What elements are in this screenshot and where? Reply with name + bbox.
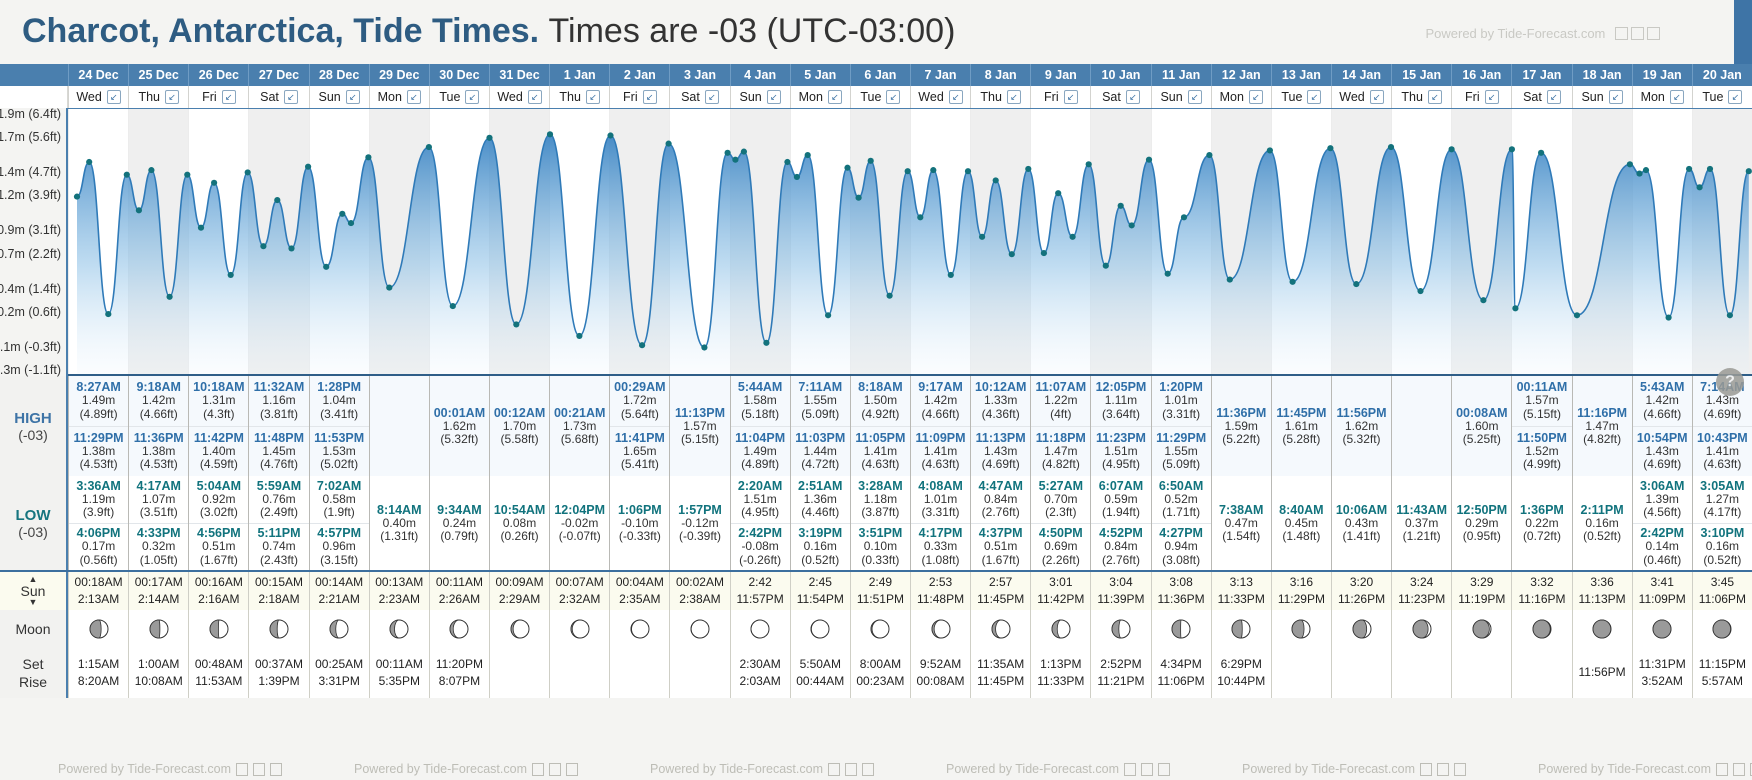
moon-phase-icon — [267, 617, 291, 641]
high-tide-height-m: 1.70m — [503, 420, 536, 433]
low-tide-time: 4:17AM — [136, 479, 180, 493]
sun-rise-time: 3:45 — [1711, 574, 1734, 591]
moon-phase-icon — [87, 617, 111, 641]
tide-extremum-dot-56 — [1103, 263, 1109, 269]
low-tide-height-ft: (4.56ft) — [1643, 506, 1681, 519]
tide-extremum-dot-54 — [1070, 234, 1076, 240]
weekday-label: Fri — [623, 90, 638, 104]
weekday-label: Sun — [319, 90, 341, 104]
moon-phase-icon — [1530, 617, 1554, 641]
expand-icon[interactable]: ↙ — [1188, 90, 1202, 104]
date-header-0[interactable]: 24 Dec — [68, 64, 128, 86]
high-tide-height-ft: (4.53ft) — [140, 458, 178, 471]
moon-phase-icon — [1470, 617, 1494, 641]
sun-rise-time: 2:53 — [929, 574, 952, 591]
expand-icon[interactable]: ↙ — [1126, 90, 1140, 104]
date-header-13[interactable]: 6 Jan — [850, 64, 910, 86]
high-tide-event: 11:45PM1.61m(5.28ft) — [1272, 376, 1331, 476]
expand-icon[interactable]: ↙ — [528, 90, 542, 104]
high-tide-height-m: 1.65m — [623, 445, 656, 458]
high-tide-time: 11:36PM — [1216, 406, 1266, 420]
high-tide-event: 11:48PM1.45m(4.76ft) — [249, 426, 308, 477]
tide-extremum-dot-42 — [887, 293, 893, 299]
high-tide-height-m: 1.55m — [804, 394, 837, 407]
sun-set-time: 2:21AM — [318, 591, 359, 608]
expand-icon[interactable]: ↙ — [586, 90, 600, 104]
high-tide-height-ft: (3.81ft) — [260, 408, 298, 421]
date-header-11[interactable]: 4 Jan — [730, 64, 790, 86]
low-tide-event: 3:10PM0.16m(0.52ft) — [1693, 523, 1752, 571]
low-tide-time: 5:11PM — [257, 526, 300, 540]
high-tide-cell-22 — [1391, 376, 1451, 476]
moon-rise-time: 10:08AM — [135, 673, 183, 690]
date-header-10[interactable]: 3 Jan — [669, 64, 729, 86]
weekday-label: Mon — [1220, 90, 1244, 104]
low-tide-cell-3: 5:59AM0.76m(2.49ft)5:11PM0.74m(2.43ft) — [248, 476, 308, 570]
weekday-label: Mon — [799, 90, 823, 104]
sun-set-time: 2:16AM — [198, 591, 239, 608]
tide-extremum-dot-28 — [639, 342, 645, 348]
moon-rise-time: 5:35PM — [379, 673, 420, 690]
high-tide-time: 1:20PM — [1159, 380, 1203, 394]
date-header-5[interactable]: 29 Dec — [369, 64, 429, 86]
expand-icon[interactable]: ↙ — [1670, 90, 1684, 104]
expand-icon[interactable]: ↙ — [1064, 90, 1078, 104]
moon-cell-17 — [1090, 610, 1150, 648]
moon-rise-time: 11:53AM — [195, 673, 242, 690]
tide-extremum-dot-45 — [930, 167, 936, 173]
moon-setrise-cell-20 — [1271, 648, 1331, 698]
sun-set-time: 11:48PM — [917, 591, 964, 608]
tide-extremum-dot-32 — [732, 157, 738, 163]
weekday-header-9: Fri↙ — [609, 86, 669, 108]
weekday-label: Thu — [980, 90, 1002, 104]
moon-cell-26 — [1632, 610, 1692, 648]
low-tide-height-m: 1.27m — [1706, 493, 1739, 506]
weekday-header-24: Sat↙ — [1511, 86, 1571, 108]
low-tide-time: 5:04AM — [197, 479, 241, 493]
low-tide-event: 5:11PM0.74m(2.43ft) — [249, 523, 308, 571]
date-header-17[interactable]: 10 Jan — [1090, 64, 1150, 86]
tide-extremum-dot-34 — [763, 340, 769, 346]
date-header-4[interactable]: 28 Dec — [309, 64, 369, 86]
high-tide-height-m: 1.42m — [924, 394, 957, 407]
tide-extremum-dot-26 — [576, 333, 582, 339]
sun-cell-15: 2:5711:45PM — [970, 572, 1030, 610]
weekday-header-1: Thu↙ — [128, 86, 188, 108]
low-tide-time: 1:57PM — [678, 503, 722, 517]
date-header-14[interactable]: 7 Jan — [910, 64, 970, 86]
high-tide-event: 11:50PM1.52m(4.99ft) — [1512, 426, 1571, 477]
high-tide-event: 5:43AM1.42m(4.66ft) — [1633, 376, 1692, 426]
high-tide-height-ft: (4.66ft) — [1643, 408, 1681, 421]
date-header-24[interactable]: 17 Jan — [1511, 64, 1571, 86]
high-tide-height-m: 1.41m — [1706, 445, 1739, 458]
tide-chart-row: 1.9m (6.4ft)1.7m (5.6ft)1.4m (4.7ft)1.2m… — [0, 108, 1752, 376]
sun-cells: 00:18AM2:13AM00:17AM2:14AM00:16AM2:16AM0… — [68, 572, 1752, 610]
expand-icon[interactable]: ↙ — [949, 90, 963, 104]
moon-rise-time: 8:07PM — [439, 673, 480, 690]
low-tide-cell-20: 8:40AM0.45m(1.48ft) — [1271, 476, 1331, 570]
low-tide-event: 10:06AM0.43m(1.41ft) — [1332, 476, 1391, 570]
high-tide-event: 11:18PM1.47m(4.82ft) — [1031, 426, 1090, 477]
high-tide-time: 11:53PM — [314, 431, 364, 445]
low-tide-height-ft: (3.15ft) — [320, 554, 358, 567]
high-tide-height-m: 1.50m — [864, 394, 897, 407]
tide-extremum-dot-64 — [1267, 147, 1273, 153]
low-tide-event: 6:07AM0.59m(1.94ft) — [1091, 476, 1150, 523]
expand-icon[interactable]: ↙ — [1609, 90, 1623, 104]
high-tide-event: 11:36PM1.59m(5.22ft) — [1212, 376, 1271, 476]
high-tide-height-m: 1.62m — [443, 420, 476, 433]
low-tide-time: 2:11PM — [1581, 503, 1624, 517]
low-tide-event: 3:36AM1.19m(3.9ft) — [69, 476, 128, 523]
high-tide-time: 10:18AM — [193, 380, 244, 394]
date-header-9[interactable]: 2 Jan — [609, 64, 669, 86]
expand-icon[interactable]: ↙ — [705, 90, 719, 104]
high-tide-height-ft: (4.99ft) — [1523, 458, 1561, 471]
high-tide-height-m: 1.40m — [202, 445, 235, 458]
footer-badge-icon-3 — [862, 763, 874, 776]
weekday-header-4: Sun↙ — [309, 86, 369, 108]
tide-extremum-dot-4 — [136, 207, 142, 213]
low-tide-cell-8: 12:04PM-0.02m(-0.07ft) — [549, 476, 609, 570]
moon-cell-5 — [369, 610, 429, 648]
tide-extremum-dot-60 — [1165, 271, 1171, 277]
low-tide-height-m: 0.70m — [1044, 493, 1077, 506]
high-tide-time: 9:18AM — [136, 380, 180, 394]
high-tide-event: 00:08AM1.60m(5.25ft) — [1452, 376, 1511, 476]
low-tide-time: 3:06AM — [1640, 479, 1684, 493]
low-tide-cell-27: 3:05AM1.27m(4.17ft)3:10PM0.16m(0.52ft) — [1692, 476, 1752, 570]
moon-rise-time: 11:33PM — [1037, 673, 1084, 690]
high-tide-height-m: 1.16m — [262, 394, 295, 407]
low-tide-height-ft: (3.9ft) — [83, 506, 114, 519]
tide-extremum-dot-16 — [323, 264, 329, 270]
high-tide-height-m: 1.42m — [142, 394, 175, 407]
low-tide-time: 1:06PM — [618, 503, 662, 517]
tide-extremum-dot-11 — [245, 169, 251, 175]
weekday-label: Fri — [1044, 90, 1059, 104]
high-tide-time: 00:01AM — [434, 406, 485, 420]
moon-phase-icon — [628, 617, 652, 641]
weekday-header-25: Sun↙ — [1572, 86, 1632, 108]
moon-setrise-cell-19: 6:29PM10:44PM — [1211, 648, 1271, 698]
weekday-label: Mon — [1641, 90, 1665, 104]
sun-rise-time: 2:57 — [989, 574, 1012, 591]
low-tide-time: 4:52PM — [1099, 526, 1143, 540]
high-tide-height-m: 1.61m — [1285, 420, 1318, 433]
moon-phase-icon — [1169, 617, 1193, 641]
low-tide-timezone: (-03) — [18, 524, 48, 540]
moon-setrise-cell-2: 00:48AM11:53AM — [188, 648, 248, 698]
low-tide-height-ft: (0.72ft) — [1523, 530, 1561, 543]
moon-rise-time: 3:31PM — [318, 673, 359, 690]
high-tide-height-ft: (5.09ft) — [1162, 458, 1200, 471]
sun-rise-time: 00:09AM — [496, 574, 544, 591]
tide-extremum-dot-67 — [1353, 281, 1359, 287]
moon-rise-time: 5:57AM — [1702, 673, 1743, 690]
tide-area-fill — [77, 134, 1749, 374]
weekday-header-10: Sat↙ — [669, 86, 729, 108]
low-tide-time: 1:36PM — [1520, 503, 1564, 517]
footer-badge-icon-2 — [253, 763, 265, 776]
moon-setrise-cell-16: 1:13PM11:33PM — [1030, 648, 1090, 698]
low-tide-cell-2: 5:04AM0.92m(3.02ft)4:56PM0.51m(1.67ft) — [188, 476, 248, 570]
expand-icon[interactable]: ↙ — [284, 90, 298, 104]
sun-rise-time: 3:29 — [1470, 574, 1493, 591]
low-tide-height-ft: (1.54ft) — [1222, 530, 1260, 543]
high-tide-event: 10:54PM1.43m(4.69ft) — [1633, 426, 1692, 477]
moon-setrise-cell-6: 11:20PM8:07PM — [429, 648, 489, 698]
expand-icon[interactable]: ↙ — [1547, 90, 1561, 104]
high-tide-height-ft: (5.02ft) — [320, 458, 358, 471]
y-axis: 1.9m (6.4ft)1.7m (5.6ft)1.4m (4.7ft)1.2m… — [0, 108, 68, 376]
sun-set-time: 11:09PM — [1639, 591, 1686, 608]
high-tide-cell-0: 8:27AM1.49m(4.89ft)11:29PM1.38m(4.53ft) — [68, 376, 128, 476]
expand-icon[interactable]: ↙ — [1307, 90, 1321, 104]
expand-icon[interactable]: ↙ — [107, 90, 121, 104]
high-tide-time: 11:16PM — [1577, 406, 1627, 420]
high-tide-cell-21: 11:56PM1.62m(5.32ft) — [1331, 376, 1391, 476]
tide-extremum-dot-83 — [1727, 312, 1733, 318]
low-tide-event: 2:42PM0.14m(0.46ft) — [1633, 523, 1692, 571]
moon-phase-icon — [989, 617, 1013, 641]
tide-extremum-dot-0 — [74, 194, 80, 200]
sun-rise-time: 2:49 — [869, 574, 892, 591]
scrollbar-track-right[interactable] — [1734, 0, 1752, 64]
low-tide-event: 4:33PM0.32m(1.05ft) — [129, 523, 188, 571]
date-header-6[interactable]: 30 Dec — [429, 64, 489, 86]
date-header-20[interactable]: 13 Jan — [1271, 64, 1331, 86]
date-header-8[interactable]: 1 Jan — [549, 64, 609, 86]
weekday-header-7: Wed↙ — [489, 86, 549, 108]
footer-watermark-0: Powered by Tide-Forecast.com — [58, 762, 282, 776]
low-tide-height-m: 0.16m — [1585, 517, 1618, 530]
date-header-cells: 24 Dec25 Dec26 Dec27 Dec28 Dec29 Dec30 D… — [68, 64, 1752, 86]
low-tide-cell-5: 8:14AM0.40m(1.31ft) — [369, 476, 429, 570]
sun-cell-4: 00:14AM2:21AM — [309, 572, 369, 610]
date-header-16[interactable]: 9 Jan — [1030, 64, 1090, 86]
high-tide-height-ft: (5.68ft) — [561, 433, 599, 446]
high-tide-event: 11:56PM1.62m(5.32ft) — [1332, 376, 1391, 476]
low-tide-event: 11:43AM0.37m(1.21ft) — [1392, 476, 1451, 570]
low-tide-event: 4:27PM0.94m(3.08ft) — [1152, 523, 1211, 571]
expand-icon[interactable]: ↙ — [1007, 90, 1021, 104]
expand-icon[interactable]: ↙ — [407, 90, 421, 104]
tide-extremum-dot-43 — [905, 168, 911, 174]
date-header-7[interactable]: 31 Dec — [489, 64, 549, 86]
sun-cell-19: 3:1311:33PM — [1211, 572, 1271, 610]
low-tide-height-m: 0.92m — [202, 493, 235, 506]
footer-badge-icon-1 — [1420, 763, 1432, 776]
moon-rise-time: 00:08AM — [917, 673, 965, 690]
moon-set-time: 00:37AM — [255, 656, 303, 673]
high-tide-event: 11:03PM1.44m(4.72ft) — [791, 426, 850, 477]
footer-badge-icon-2 — [549, 763, 561, 776]
date-header-26[interactable]: 19 Jan — [1632, 64, 1692, 86]
tide-extremum-dot-80 — [1686, 166, 1692, 172]
expand-icon[interactable]: ↙ — [1428, 90, 1442, 104]
date-header-18[interactable]: 11 Jan — [1151, 64, 1211, 86]
tide-extremum-dot-14 — [288, 245, 294, 251]
weekday-label: Wed — [918, 90, 943, 104]
high-tide-event: 11:53PM1.53m(5.02ft) — [310, 426, 369, 477]
y-tick-4: 0.9m (3.1ft) — [0, 223, 61, 237]
high-tide-height-m: 1.57m — [1525, 394, 1558, 407]
high-tide-time: 11:42PM — [194, 431, 244, 445]
tide-extremum-dot-73 — [1512, 305, 1518, 311]
low-tide-cell-14: 4:08AM1.01m(3.31ft)4:17PM0.33m(1.08ft) — [910, 476, 970, 570]
moon-rise-time: 00:23AM — [856, 673, 904, 690]
sun-cell-25: 3:3611:13PM — [1572, 572, 1632, 610]
tide-extremum-dot-55 — [1086, 161, 1092, 167]
sun-cell-5: 00:13AM2:23AM — [369, 572, 429, 610]
low-tide-height-m: 0.08m — [503, 517, 536, 530]
high-tide-event: 11:36PM1.38m(4.53ft) — [129, 426, 188, 477]
low-tide-height-m: 0.58m — [322, 493, 355, 506]
date-header-row: 24 Dec25 Dec26 Dec27 Dec28 Dec29 Dec30 D… — [0, 64, 1752, 86]
high-tide-time: 11:13PM — [976, 431, 1026, 445]
low-tide-height-ft: (0.52ft) — [1583, 530, 1621, 543]
high-tide-cell-16: 11:07AM1.22m(4ft)11:18PM1.47m(4.82ft) — [1030, 376, 1090, 476]
tide-extremum-dot-40 — [856, 195, 862, 201]
low-tide-time: 10:54AM — [494, 503, 545, 517]
high-tide-event: 5:44AM1.58m(5.18ft) — [731, 376, 790, 426]
moon-phase-icon — [808, 617, 832, 641]
low-tide-height-m: 0.59m — [1104, 493, 1137, 506]
low-tide-height-m: 0.40m — [383, 517, 416, 530]
moon-cell-24 — [1511, 610, 1571, 648]
expand-icon[interactable]: ↙ — [346, 90, 360, 104]
sun-rise-time: 00:16AM — [195, 574, 243, 591]
tide-extremum-dot-58 — [1129, 222, 1135, 228]
sun-rise-time: 3:01 — [1049, 574, 1072, 591]
expand-icon[interactable]: ↙ — [1249, 90, 1263, 104]
moon-cell-1 — [128, 610, 188, 648]
date-header-27[interactable]: 20 Jan — [1692, 64, 1752, 86]
date-header-23[interactable]: 16 Jan — [1451, 64, 1511, 86]
tide-extremum-dot-20 — [386, 285, 392, 291]
expand-icon[interactable]: ↙ — [1370, 90, 1384, 104]
sun-cell-6: 00:11AM2:26AM — [429, 572, 489, 610]
tide-extremum-dot-6 — [167, 294, 173, 300]
low-tide-event: 5:27AM0.70m(2.3ft) — [1031, 476, 1090, 523]
low-tide-time: 11:43AM — [1396, 503, 1447, 517]
low-tide-height-ft: (1.08ft) — [922, 554, 960, 567]
low-tide-height-m: 0.10m — [864, 540, 897, 553]
date-header-2[interactable]: 26 Dec — [188, 64, 248, 86]
high-tide-height-m: 1.45m — [262, 445, 295, 458]
tide-extremum-dot-1 — [86, 159, 92, 165]
high-tide-time: 11:41PM — [615, 431, 665, 445]
date-header-19[interactable]: 12 Jan — [1211, 64, 1271, 86]
expand-icon[interactable]: ↙ — [1728, 90, 1742, 104]
high-tide-time: 10:12AM — [975, 380, 1026, 394]
high-tide-cells: 8:27AM1.49m(4.89ft)11:29PM1.38m(4.53ft)9… — [68, 376, 1752, 476]
high-tide-cell-1: 9:18AM1.42m(4.66ft)11:36PM1.38m(4.53ft) — [128, 376, 188, 476]
expand-icon[interactable]: ↙ — [222, 90, 236, 104]
expand-icon[interactable]: ↙ — [767, 90, 781, 104]
low-tide-height-ft: (1.9ft) — [323, 506, 354, 519]
date-header-1[interactable]: 25 Dec — [128, 64, 188, 86]
y-tick-6: 0.4m (1.4ft) — [0, 282, 61, 296]
expand-icon[interactable]: ↙ — [886, 90, 900, 104]
date-header-21[interactable]: 14 Jan — [1331, 64, 1391, 86]
moon-cell-15 — [970, 610, 1030, 648]
date-header-25[interactable]: 18 Jan — [1572, 64, 1632, 86]
moon-rise-time: 8:20AM — [78, 673, 119, 690]
high-tide-height-m: 1.59m — [1225, 420, 1258, 433]
tide-extremum-dot-30 — [701, 344, 707, 350]
weekday-header-8: Thu↙ — [549, 86, 609, 108]
expand-icon[interactable]: ↙ — [643, 90, 657, 104]
date-header-15[interactable]: 8 Jan — [970, 64, 1030, 86]
footer-watermark-4: Powered by Tide-Forecast.com — [1242, 762, 1466, 776]
low-tide-event: 4:50PM0.69m(2.26ft) — [1031, 523, 1090, 571]
high-tide-height-m: 1.52m — [1525, 445, 1558, 458]
low-tide-height-m: -0.12m — [681, 517, 718, 530]
low-tide-event: 4:17AM1.07m(3.51ft) — [129, 476, 188, 523]
y-tick-2: 1.4m (4.7ft) — [0, 165, 61, 179]
low-tide-height-ft: (4.46ft) — [801, 506, 839, 519]
low-tide-event: 5:59AM0.76m(2.49ft) — [249, 476, 308, 523]
sun-set-time: 11:36PM — [1158, 591, 1205, 608]
sun-set-time: 2:18AM — [258, 591, 299, 608]
low-tide-time: 2:42PM — [1640, 526, 1684, 540]
sun-set-time: 2:35AM — [619, 591, 660, 608]
moon-phase-icon — [327, 617, 351, 641]
low-tide-event: 2:11PM0.16m(0.52ft) — [1573, 476, 1632, 570]
high-tide-height-ft: (4.36ft) — [982, 408, 1020, 421]
high-tide-cell-7: 00:12AM1.70m(5.58ft) — [489, 376, 549, 476]
moon-rise-time: 2:03AM — [739, 673, 780, 690]
expand-icon[interactable]: ↙ — [165, 90, 179, 104]
low-tide-height-m: 0.76m — [262, 493, 295, 506]
high-tide-cell-15: 10:12AM1.33m(4.36ft)11:13PM1.43m(4.69ft) — [970, 376, 1030, 476]
tide-extremum-dot-38 — [825, 312, 831, 318]
expand-icon[interactable]: ↙ — [828, 90, 842, 104]
high-tide-event: 9:18AM1.42m(4.66ft) — [129, 376, 188, 426]
tide-extremum-dot-25 — [547, 131, 553, 137]
moon-setrise-cell-5: 00:11AM5:35PM — [369, 648, 429, 698]
expand-icon[interactable]: ↙ — [1485, 90, 1499, 104]
tide-extremum-dot-72 — [1509, 146, 1515, 152]
high-tide-height-m: 1.01m — [1164, 394, 1197, 407]
low-tide-cell-22: 11:43AM0.37m(1.21ft) — [1391, 476, 1451, 570]
low-tide-height-m: 0.84m — [984, 493, 1017, 506]
moon-cell-0 — [68, 610, 128, 648]
date-header-22[interactable]: 15 Jan — [1391, 64, 1451, 86]
sun-rise-time: 00:11AM — [436, 574, 483, 591]
low-tide-time: 6:50AM — [1159, 479, 1203, 493]
expand-icon[interactable]: ↙ — [465, 90, 479, 104]
moon-setrise-cell-1: 1:00AM10:08AM — [128, 648, 188, 698]
low-tide-height-ft: (3.87ft) — [861, 506, 899, 519]
date-header-3[interactable]: 27 Dec — [248, 64, 308, 86]
low-tide-event: 4:06PM0.17m(0.56ft) — [69, 523, 128, 571]
high-tide-time: 11:36PM — [134, 431, 184, 445]
low-tide-height-ft: (1.94ft) — [1102, 506, 1140, 519]
moon-cell-13 — [850, 610, 910, 648]
high-tide-event: 11:29PM1.55m(5.09ft) — [1152, 426, 1211, 477]
tide-chart-plot[interactable] — [68, 108, 1752, 376]
moon-cell-8 — [549, 610, 609, 648]
moon-phase-icon — [508, 617, 532, 641]
low-tide-event: 3:06AM1.39m(4.56ft) — [1633, 476, 1692, 523]
high-tide-height-ft: (3.41ft) — [320, 408, 358, 421]
date-header-12[interactable]: 5 Jan — [790, 64, 850, 86]
